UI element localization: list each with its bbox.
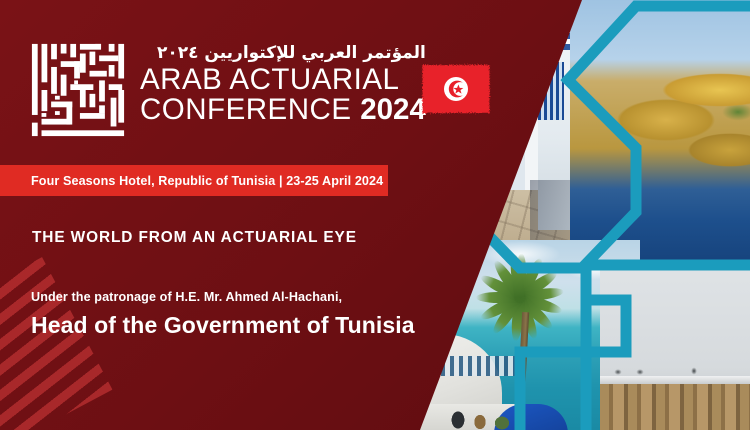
flag-emblem (444, 77, 468, 101)
photo-rocky-coastline (570, 0, 750, 270)
photo-roman-ruins (600, 265, 750, 430)
title-conference-word: CONFERENCE (140, 93, 352, 126)
ruins-arches (600, 384, 750, 430)
blue-umbrella (494, 404, 568, 430)
palm-crown (480, 262, 566, 330)
date-venue-text: Four Seasons Hotel, Republic of Tunisia … (0, 174, 383, 188)
logo-and-title: المؤتمر العربي للإكتواريين ٢٠٢٤ ARAB ACT… (30, 42, 426, 138)
title-line-2: CONFERENCE 2024 (140, 95, 426, 126)
patronage-title: Head of the Government of Tunisia (31, 312, 415, 339)
poster-content: المؤتمر العربي للإكتواريين ٢٠٢٤ ARAB ACT… (0, 0, 470, 430)
date-venue-banner: Four Seasons Hotel, Republic of Tunisia … (0, 165, 388, 196)
title-block: المؤتمر العربي للإكتواريين ٢٠٢٤ ARAB ACT… (140, 42, 426, 126)
tunisia-flag-badge (420, 60, 492, 118)
conference-poster: المؤتمر العربي للإكتواريين ٢٠٢٤ ARAB ACT… (0, 0, 750, 430)
title-year: 2024 (360, 93, 426, 126)
title-line-1: ARAB ACTUARIAL (140, 65, 426, 96)
patronage-line: Under the patronage of H.E. Mr. Ahmed Al… (31, 290, 342, 304)
ruins-vents (610, 367, 750, 376)
title-arabic: المؤتمر العربي للإكتواريين ٢٠٢٤ (140, 44, 426, 63)
ruins-roofline (600, 376, 750, 384)
square-kufic-logo-icon (30, 42, 126, 138)
palm-trunk (516, 312, 529, 430)
conference-tagline: THE WORLD FROM AN ACTUARIAL EYE (32, 229, 357, 247)
